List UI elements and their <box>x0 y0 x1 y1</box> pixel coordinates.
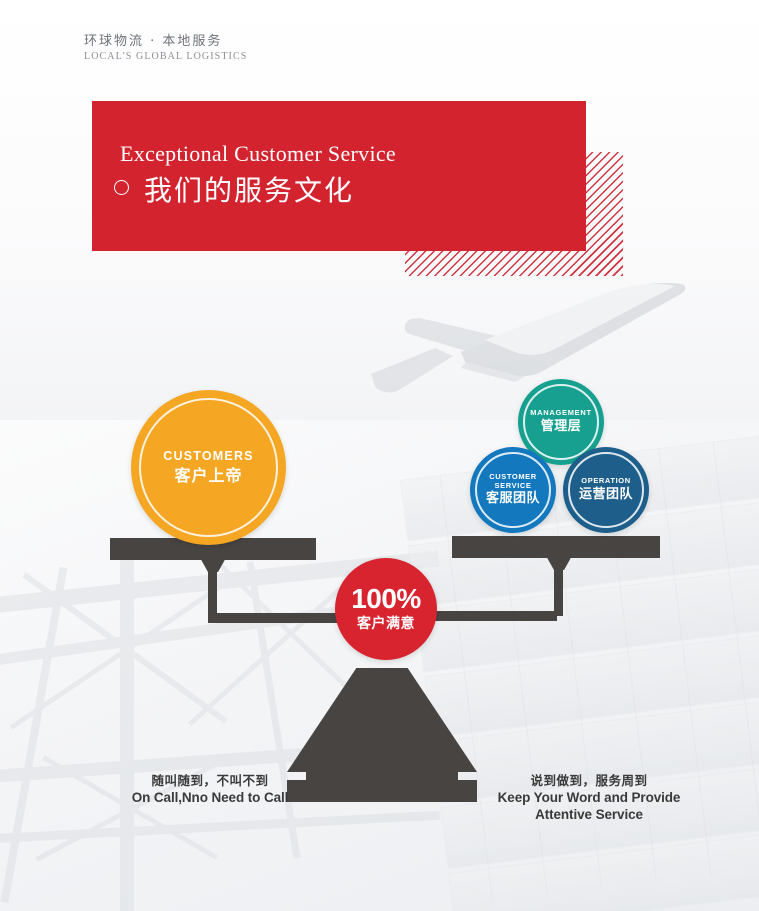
pedestal-column <box>287 668 477 772</box>
caption-right-cn: 说到做到，服务周到 <box>489 772 689 789</box>
slide-canvas: 环球物流 · 本地服务 LOCAL'S GLOBAL LOGISTICS Exc… <box>0 0 759 911</box>
scale-knob-right <box>545 554 573 570</box>
satisfaction-label-cn: 客户满意 <box>357 616 415 632</box>
badge-customer-service-label-en-line2: SERVICE <box>495 482 532 490</box>
badge-customers-label-en: CUSTOMERS <box>163 449 253 463</box>
badge-customers-label-cn: 客户上帝 <box>174 467 242 485</box>
brand-name-en: LOCAL'S GLOBAL LOGISTICS <box>84 50 247 63</box>
scale-pedestal <box>287 668 477 796</box>
badge-operation[interactable]: OPERATION 运营团队 <box>563 447 649 533</box>
banner-title-en: Exceptional Customer Service <box>120 141 396 167</box>
title-banner: Exceptional Customer Service 我们的服务文化 <box>92 101 586 251</box>
brand-name-cn: 环球物流 · 本地服务 <box>84 34 247 50</box>
badge-customers[interactable]: CUSTOMERS 客户上帝 <box>131 390 286 545</box>
brand-wordmark: 环球物流 · 本地服务 LOCAL'S GLOBAL LOGISTICS <box>84 34 247 63</box>
caption-right-en-line2: Attentive Service <box>489 806 689 823</box>
caption-right-en-line1: Keep Your Word and Provide <box>489 789 689 806</box>
pedestal-step <box>306 768 458 781</box>
badge-operation-label-en: OPERATION <box>581 477 630 485</box>
caption-left-en: On Call,Nno Need to Call <box>110 789 310 806</box>
badge-satisfaction[interactable]: 100% 客户满意 <box>335 558 437 660</box>
badge-ring <box>475 452 551 528</box>
caption-left-cn: 随叫随到，不叫不到 <box>110 772 310 789</box>
pedestal-base <box>287 780 477 802</box>
caption-right: 说到做到，服务周到 Keep Your Word and Provide Att… <box>489 772 689 823</box>
badge-customer-service[interactable]: CUSTOMER SERVICE 客服团队 <box>470 447 556 533</box>
scale-knob-left <box>199 556 227 572</box>
scale-stem-right <box>554 566 563 616</box>
badge-customer-service-label-cn: 客服团队 <box>486 492 540 507</box>
scale-pan-right <box>452 536 660 558</box>
airplane-icon <box>365 278 695 406</box>
circle-outline-icon <box>114 180 129 195</box>
banner-title-cn: 我们的服务文化 <box>144 169 354 209</box>
scale-stem-left <box>208 568 217 618</box>
badge-management-label-en: MANAGEMENT <box>530 409 592 417</box>
caption-left: 随叫随到，不叫不到 On Call,Nno Need to Call <box>110 772 310 806</box>
satisfaction-percent: 100% <box>351 585 421 613</box>
badge-operation-label-cn: 运营团队 <box>579 488 633 503</box>
badge-management-label-cn: 管理层 <box>541 420 582 435</box>
